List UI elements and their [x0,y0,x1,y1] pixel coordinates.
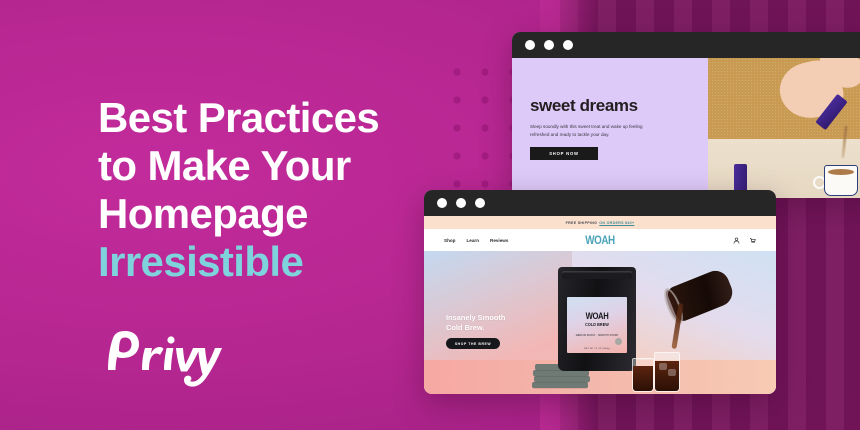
woah-hero-copy: Insanely Smooth Cold Brew. SHOP THE BREW [446,313,542,349]
bag-label: WOAH COLD BREW MEDIUM ROAST · SMOOTH FIN… [567,297,627,353]
photo-glass [654,352,680,392]
photo-glass [632,358,654,392]
cart-icon[interactable] [749,237,756,244]
announcement-text: FREE SHIPPING [566,221,598,225]
sweet-dreams-title: sweet dreams [530,96,708,116]
headline-line-1: Best Practices [98,94,379,141]
woah-brand-logo[interactable]: WOAH [456,233,745,247]
browser-mockup-woah[interactable]: FREE SHIPPING ON ORDERS $40+ Shop Learn … [424,190,776,394]
sweet-dreams-hero: sweet dreams Sleep soundly with this swe… [512,58,860,198]
background-dot-grid [437,52,523,192]
privy-logo: Privy [98,326,228,388]
bag-net-weight: NET WT 12 OZ (340g) [567,348,627,350]
window-minimize-dot[interactable] [544,40,554,50]
headline-line-3: Homepage [98,190,308,237]
woah-hero-title: Insanely Smooth Cold Brew. [446,313,542,332]
bag-brand: WOAH [572,311,623,321]
woah-hero: Insanely Smooth Cold Brew. SHOP THE BREW… [424,251,776,394]
bag-description: MEDIUM ROAST · SMOOTH FINISH [567,334,627,337]
sweet-dreams-photo [708,58,860,198]
site-navigation: Shop Learn Reviews WOAH [424,229,776,251]
page-title: Best Practices to Make Your Homepage Irr… [98,94,428,286]
bag-zipper [562,271,632,279]
user-icon[interactable] [733,237,740,244]
bag-seal-icon [615,338,622,345]
announcement-link[interactable]: ON ORDERS $40+ [599,221,634,225]
bag-variant: COLD BREW [572,322,623,327]
woah-hero-title-line-2: Cold Brew. [446,323,484,332]
window-maximize-dot[interactable] [563,40,573,50]
shop-now-button[interactable]: SHOP NOW [530,147,598,160]
pouch [534,376,590,382]
browser-titlebar [512,32,860,58]
browser-titlebar [424,190,776,216]
sweet-dreams-copy: sweet dreams Sleep soundly with this swe… [512,58,708,198]
headline-accent: Irresistible [98,238,428,286]
pouch [532,382,588,388]
marketing-banner: Best Practices to Make Your Homepage Irr… [0,0,860,430]
shop-the-brew-button[interactable]: SHOP THE BREW [446,338,500,349]
browser-mockup-sweet-dreams[interactable]: sweet dreams Sleep soundly with this swe… [512,32,860,198]
woah-hero-title-line-1: Insanely Smooth [446,313,505,322]
photo-ice-cube [668,369,676,376]
headline-line-2: to Make Your [98,142,351,189]
nav-icons [733,237,756,244]
window-close-dot[interactable] [437,198,447,208]
nav-item-shop[interactable]: Shop [444,238,455,243]
photo-mug [824,165,858,196]
sweet-dreams-subtitle: Sleep soundly with this sweet treat and … [530,123,652,138]
photo-glass-brew [633,366,653,391]
window-maximize-dot[interactable] [475,198,485,208]
announcement-bar: FREE SHIPPING ON ORDERS $40+ [424,216,776,229]
window-close-dot[interactable] [525,40,535,50]
product-bag[interactable]: WOAH COLD BREW MEDIUM ROAST · SMOOTH FIN… [558,267,636,371]
photo-ice-cube [659,363,667,370]
window-minimize-dot[interactable] [456,198,466,208]
